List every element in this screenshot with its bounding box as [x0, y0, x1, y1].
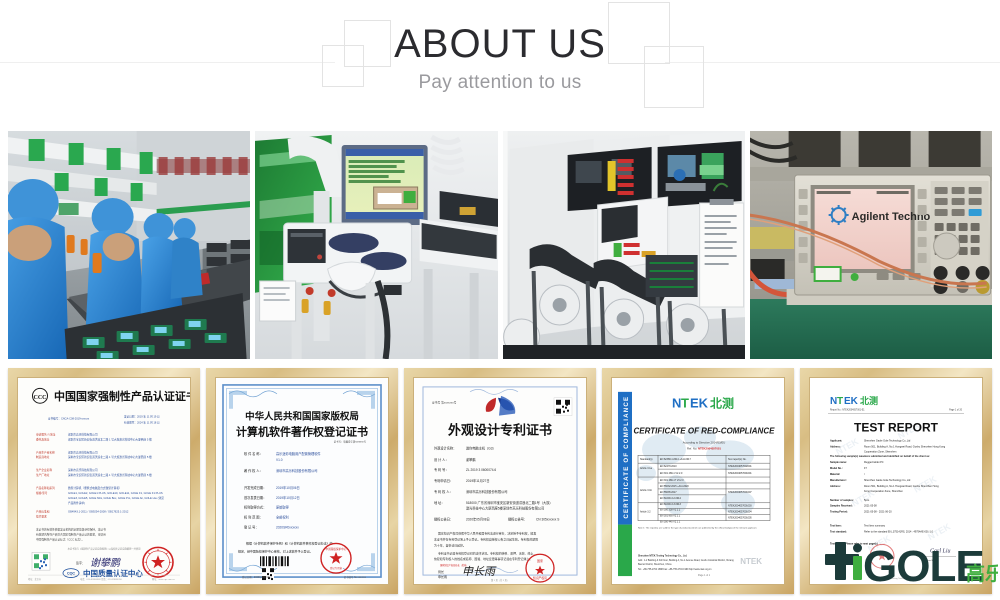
svg-text:2019年10月06日: 2019年10月06日	[276, 485, 300, 490]
svg-text:Carl Liu: Carl Liu	[930, 548, 951, 554]
certificate-red-compliance-page: CERTIFICATE OF COMPLIANCE N T EK 北测 CERT…	[611, 377, 785, 585]
svg-text:深圳市宝安区新安街道洪浪北二路 1 号大族激光科技中心大厦西: 深圳市宝安区新安街道洪浪北二路 1 号大族激光科技中心大厦西座 5 楼	[68, 437, 152, 441]
svg-text:证书号 第xxxxxxx号: 证书号 第xxxxxxx号	[432, 401, 457, 405]
svg-text:专 利 号：: 专 利 号：	[434, 467, 449, 472]
svg-text:产品名称和系列: 产品名称和系列	[36, 486, 55, 490]
svg-text:Address:: Address:	[830, 485, 841, 488]
svg-text:申长雨: 申长雨	[462, 565, 497, 578]
svg-text:生产厂地址: 生产厂地址	[36, 473, 50, 477]
svg-text:委托及地址: 委托及地址	[36, 437, 50, 441]
svg-text:NTEK: NTEK	[740, 557, 762, 566]
svg-text:申请服务人/地址: 申请服务人/地址	[36, 432, 56, 436]
gallery-photo-aoi-machine[interactable]	[255, 131, 497, 359]
svg-text:外观设计名称：: 外观设计名称：	[434, 445, 456, 450]
svg-text:制造商地址: 制造商地址	[36, 455, 50, 459]
svg-text:Page 1 of 1: Page 1 of 1	[698, 574, 711, 577]
svg-text:GB4943.1-2011 / GB9254-2008 /: GB4943.1-2011 / GB9254-2008 / GB17625.1-…	[68, 510, 129, 514]
svg-text:发证日期：2019 年 11 月 19 日: 发证日期：2019 年 11 月 19 日	[124, 415, 160, 419]
svg-text:Manufacturer:: Manufacturer:	[830, 479, 847, 482]
svg-text:Test results: Please refer to: Test results: Please refer to next page(…	[830, 542, 878, 545]
svg-text:生产企业名称: 生产企业名称	[36, 468, 52, 472]
svg-text:NTEK2004057001007: NTEK2004057001007	[728, 491, 752, 494]
svg-text:北测: 北测	[710, 396, 734, 411]
svg-text:设 计 人：: 设 计 人：	[434, 457, 449, 462]
svg-text:地 址：: 地 址：	[434, 500, 444, 505]
svg-text:知识产权局: 知识产权局	[533, 576, 547, 580]
svg-text:Add.: 1-2 Building & 3rd Floor: Add.: 1-2 Building & 3rd Floor, Building…	[638, 559, 734, 562]
svg-text:EK: EK	[844, 396, 859, 407]
svg-text:EN 300 328 V2.2.2: EN 300 328 V2.2.2	[660, 509, 681, 512]
svg-text:Address:: Address:	[830, 445, 841, 448]
svg-text:Shenzhen Gaole Gole Technology: Shenzhen Gaole Gole Technology Co.,Ltd	[864, 479, 911, 482]
svg-text:Test Item:: Test Item:	[830, 525, 842, 528]
certificate-design-patent[interactable]: 证书号 第xxxxxxx号	[404, 368, 596, 594]
svg-text:谢攀鹏: 谢攀鹏	[466, 457, 476, 462]
svg-text:Shenzhen Gaole Gole Technology: Shenzhen Gaole Gole Technology Co.,Ltd	[864, 439, 911, 442]
svg-text:2021-05-08: 2021-05-08	[864, 505, 877, 508]
certificate-ccc-page: CCC 中国国家强制性产品认证证书 证书编号：CNCA-C08-2019-xxx…	[17, 377, 191, 585]
svg-text:2020年05月08日: 2020年05月08日	[466, 517, 490, 522]
svg-text:T: T	[837, 396, 843, 407]
svg-text:专利证书记载专利权登记时的法律状况。专利权的转移、质押、无效: 专利证书记载专利权登记时的法律状况。专利权的转移、质押、无效、终止、	[438, 550, 536, 555]
certificate-ccc[interactable]: CCC 中国国家强制性产品认证证书 证书编号：CNCA-C08-2019-xxx…	[8, 368, 200, 594]
svg-text:有效期内所列产品符合国家强制性产品认证的要求，可使用: 有效期内所列产品符合国家强制性产品认证的要求，可使用	[36, 532, 106, 536]
svg-text:EN 61000-3-2:2014: EN 61000-3-2:2014	[660, 497, 682, 500]
header-text-block: ABOUT US Pay attention to us	[0, 0, 1000, 95]
svg-text:Number of samples:: Number of samples:	[830, 499, 854, 502]
svg-text:EN 55032:2015 +A11:2020: EN 55032:2015 +A11:2020	[660, 485, 689, 488]
svg-text:Test standard:: Test standard:	[830, 531, 847, 534]
page-subtitle: Pay attention to us	[0, 71, 1000, 95]
svg-text:申长雨: 申长雨	[438, 574, 447, 579]
certificate-test-report[interactable]: NTEK NTEK NTEK NTEK NTEK NTEK N T EK 北测	[800, 368, 992, 594]
svg-text:The following sample(s) was/we: The following sample(s) was/were submitt…	[830, 455, 930, 458]
gallery-photo-agilent-test-equipment[interactable]: Agilent Technologies	[750, 131, 992, 359]
svg-text:EN 301 489-17 V3.2.0: EN 301 489-17 V3.2.0	[660, 479, 684, 482]
svg-text:授权公告日：: 授权公告日：	[434, 517, 453, 522]
svg-text:Bao'an District, Shenzhen, Chi: Bao'an District, Shenzhen, China	[638, 563, 672, 566]
svg-text:Approved by: Approved by	[922, 559, 935, 562]
svg-text:权 利 范 围：: 权 利 范 围：	[244, 515, 263, 520]
svg-text:EN 301 489-1 V2.2.0: EN 301 489-1 V2.2.0	[660, 472, 683, 475]
svg-text:T: T	[681, 396, 689, 411]
svg-text:Applicant:: Applicant:	[830, 439, 842, 442]
svg-text:Room 501, Building A, No.1 Hon: Room 501, Building A, No.1 Hongwei Road,…	[864, 445, 946, 448]
svg-text:本证书并在专利登记簿上予以登记。专利权自授权公告之日起生效。: 本证书并在专利登记簿上予以登记。专利权自授权公告之日起生效。专利权的期限	[434, 536, 538, 541]
svg-text:Shenzhen NTEK Testing Technolo: Shenzhen NTEK Testing Technology Co., Lt…	[874, 577, 919, 580]
svg-text:高乐迷你电脑用户配置管理软件: 高乐迷你电脑用户配置管理软件	[276, 451, 321, 456]
svg-text:迷你电脑主机（G3）: 迷你电脑主机（G3）	[466, 445, 496, 450]
svg-text:规定，经中国版权保护中心审核，对上述软件予以登记。: 规定，经中国版权保护中心审核，对上述软件予以登记。	[238, 548, 313, 553]
svg-text:原始取得: 原始取得	[276, 505, 290, 510]
svg-text:2020SR0xxxxxx: 2020SR0xxxxxx	[276, 526, 299, 530]
svg-text:开发完成日期：: 开发完成日期：	[244, 485, 266, 490]
svg-text:深圳市高乐科技有限公司: 深圳市高乐科技有限公司	[68, 432, 98, 436]
svg-text:授权公告号：: 授权公告号：	[508, 517, 527, 522]
svg-text:规格/型号: 规格/型号	[36, 491, 48, 495]
svg-text:软 件 名 称：: 软 件 名 称：	[244, 451, 263, 456]
svg-text:产品标准和: 产品标准和	[36, 510, 50, 514]
svg-text:外观设计专利证书: 外观设计专利证书	[448, 423, 552, 438]
svg-text:2021-05-08 - 2021-06-20: 2021-05-08 - 2021-06-20	[864, 511, 892, 514]
svg-text:NTEK2004057001004: NTEK2004057001004	[728, 511, 752, 514]
svg-text:5pcs: 5pcs	[864, 499, 870, 502]
svg-text:产品生产者名称: 产品生产者名称	[36, 450, 55, 454]
svg-text:EN 301 893 V2.1.1: EN 301 893 V2.1.1	[660, 515, 681, 518]
svg-text:局长: 局长	[438, 569, 444, 574]
svg-text:TEST REPORT: TEST REPORT	[854, 421, 939, 435]
svg-text:中华人民共和国国家版权局: 中华人民共和国国家版权局	[245, 411, 359, 423]
svg-text:Room 501, Building A, No.1 Hon: Room 501, Building A, No.1 Hongwei Road,…	[864, 485, 939, 488]
svg-text:EN 62479:2010: EN 62479:2010	[660, 465, 677, 468]
svg-text:登记专用章: 登记专用章	[330, 566, 343, 570]
svg-text:中国强制性产品认证标志（CCC 标志）。: 中国强制性产品认证标志（CCC 标志）。	[36, 537, 84, 541]
svg-text:Standard(s): Standard(s)	[640, 458, 653, 461]
svg-text:深圳市宝安区新安街道洪浪北二路 1 号大族激光科技中心大厦西: 深圳市宝安区新安街道洪浪北二路 1 号大族激光科技中心大厦西座 5 楼	[68, 473, 152, 477]
svg-text:激光科技中心大厦西座5楼深圳市高乐科技股份有限公司: 激光科技中心大厦西座5楼深圳市高乐科技股份有限公司	[466, 506, 544, 511]
svg-text:证书编号 No.xxxxxxx: 证书编号 No.xxxxxxx	[344, 575, 367, 579]
svg-text:Article 3.1b: Article 3.1b	[640, 489, 653, 492]
svg-text:深圳市高乐科技股份有限公司: 深圳市高乐科技股份有限公司	[466, 489, 507, 494]
svg-text:NTEK2004057002001: NTEK2004057002001	[728, 465, 752, 468]
factory-photo-gallery: Agilent Technologies	[8, 131, 992, 359]
svg-text:Ref. No. NTEK2004057001: Ref. No. NTEK2004057001	[687, 446, 721, 450]
svg-text:Kong Cooperation Zone, Shenzhe: Kong Cooperation Zone, Shenzhen	[864, 490, 904, 493]
svg-text:北测: 北测	[860, 395, 878, 406]
svg-text:本证书的有效性依据发证机构的定期监督获得保持，本证书: 本证书的有效性依据发证机构的定期监督获得保持，本证书	[36, 528, 106, 532]
svg-text:深圳市高乐科技股份有限公司: 深圳市高乐科技股份有限公司	[276, 468, 317, 473]
svg-text:Refer to the standard EN_37514: Refer to the standard EN_375141RS, 2014 …	[864, 531, 934, 534]
svg-text:EN 61000-3-3:2013: EN 61000-3-3:2013	[660, 503, 682, 506]
svg-text:NTEK2004057001005: NTEK2004057001005	[728, 517, 752, 520]
svg-text:登记日期：2020年03月18日: 登记日期：2020年03月18日	[242, 575, 272, 579]
svg-text:国家知识产权局依照中华人民共和国专利法进行审查，决定授予专利: 国家知识产权局依照中华人民共和国专利法进行审查，决定授予专利权，颁发	[438, 531, 536, 536]
svg-text:登 记 号：: 登 记 号：	[244, 525, 259, 530]
gallery-photo-assembly-line[interactable]	[8, 131, 250, 359]
svg-text:Tel.: +86-755-2704 1888 Fax:: Tel.: +86-755-2704 1888 Fax: +86-755-270…	[638, 568, 712, 571]
svg-text:专 利 权 人：: 专 利 权 人：	[434, 489, 453, 494]
svg-text:Page 1 of 20: Page 1 of 20	[949, 410, 963, 412]
svg-text:EN 55035:2017: EN 55035:2017	[660, 491, 677, 494]
svg-text:Testing Period:: Testing Period:	[830, 511, 848, 514]
svg-text:证书编号：CNCA-C08-2019-xxxxxx: 证书编号：CNCA-C08-2019-xxxxxx	[48, 417, 90, 421]
svg-text:深圳市高乐科技有限公司: 深圳市高乐科技有限公司	[68, 468, 98, 472]
svg-text:全部权利: 全部权利	[276, 515, 289, 520]
svg-text:微型计算机（便携式电脑及台式微型计算机）: 微型计算机（便携式电脑及台式微型计算机）	[68, 486, 122, 490]
svg-text:权利取得方式：: 权利取得方式：	[244, 505, 266, 510]
svg-text:Material:: Material:	[830, 473, 840, 476]
svg-text:CERTIFICATE OF COMPLIANCE: CERTIFICATE OF COMPLIANCE	[623, 396, 630, 519]
svg-text:Test report(s) No.: Test report(s) No.	[728, 458, 747, 461]
svg-text:Sample name:: Sample name:	[830, 461, 847, 464]
svg-text:Note 1: The report(s) are vali: Note 1: The report(s) are valid for the …	[638, 527, 757, 530]
svg-text:签字：: 签字：	[76, 560, 85, 565]
svg-text:著 作 权 人：: 著 作 权 人：	[244, 468, 263, 473]
svg-text:NTEK2004057001001: NTEK2004057001001	[728, 472, 752, 475]
svg-text:CERTIFICATE OF RED-COMPLIANCE: CERTIFICATE OF RED-COMPLIANCE	[634, 426, 776, 435]
certificate-red-compliance[interactable]: CERTIFICATE OF COMPLIANCE N T EK 北测 CERT…	[602, 368, 794, 594]
svg-text:EK: EK	[690, 396, 709, 411]
svg-text:深圳市宝安区新安街道洪浪北二路 1 号大族激光科技中心大厦西: 深圳市宝安区新安街道洪浪北二路 1 号大族激光科技中心大厦西座 5 楼	[68, 455, 152, 459]
svg-text:Samples Received:: Samples Received:	[830, 505, 853, 508]
svg-text:中国质量认证中心: 中国质量认证中心	[83, 568, 143, 578]
svg-text:恢复和专利权人的姓名或名称、国籍、地址变更等事项记载在专利登: 恢复和专利权人的姓名或名称、国籍、地址变更等事项记载在专利登记簿上。	[434, 556, 532, 561]
svg-text:Article 3.1a: Article 3.1a	[640, 467, 653, 470]
svg-text:国家: 国家	[537, 558, 543, 563]
svg-text:中国版权保护中心: 中国版权保护中心	[326, 547, 347, 551]
certificate-software-copyright-page: 中华人民共和国国家版权局 计算机软件著作权登记证书 证书号：软著登字第xxxxx…	[215, 377, 389, 585]
svg-text:518000 广东省深圳市宝安区新安街道洪浪北二路1号（大族: 518000 广东省深圳市宝安区新安街道洪浪北二路1号（大族）	[466, 500, 553, 505]
svg-text:谢攀鹏: 谢攀鹏	[90, 557, 121, 569]
svg-text:CN 305xxxxxx S: CN 305xxxxxx S	[536, 518, 559, 522]
svg-text:为十年，自申请日起算。: 为十年，自申请日起算。	[434, 542, 466, 547]
svg-text:NTEK2004057001003: NTEK2004057001003	[728, 505, 752, 508]
svg-text:2019年10月12日: 2019年10月12日	[276, 495, 300, 500]
svg-text:Report No.: NTEK2004057001-E1: Report No.: NTEK2004057001-E1	[830, 409, 865, 412]
svg-text:有效期至：2024 年 11 月 18 日: 有效期至：2024 年 11 月 18 日	[124, 421, 160, 425]
svg-text:GOLE1, GOLE2, GOLE1 PLUS, GOLE: GOLE1, GOLE2, GOLE1 PLUS, GOLE10, GOLE11…	[68, 491, 163, 495]
svg-text:N: N	[672, 396, 681, 411]
about-us-page: ABOUT US Pay attention to us	[0, 0, 1000, 600]
svg-text:证书号：软著登字第xxxxxxx号: 证书号：软著登字第xxxxxxx号	[334, 439, 367, 443]
svg-text:According to Directive 2014/5: According to Directive 2014/53/EU	[683, 440, 725, 444]
svg-text:2019年11月27日: 2019年11月27日	[466, 478, 490, 483]
svg-text:Shenzhen NTEK Testing Technolo: Shenzhen NTEK Testing Technology Co., Lt…	[638, 554, 687, 557]
certificate-test-report-page: NTEK NTEK NTEK NTEK NTEK NTEK N T EK 北测	[809, 377, 983, 585]
svg-text:GOLE3, GOLE5, GOLE Mini, GOLE: GOLE3, GOLE5, GOLE Mini, GOLE Box, GOLE …	[68, 496, 164, 500]
svg-text:根据《计算机软件保护条例》和《计算机软件著作权登记办法》的: 根据《计算机软件保护条例》和《计算机软件著作权登记办法》的	[246, 540, 333, 545]
svg-text:Test Item summary: Test Item summary	[864, 525, 886, 528]
svg-text:首次发表日期：: 首次发表日期：	[244, 495, 266, 500]
svg-text:专利申请日：: 专利申请日：	[434, 478, 453, 483]
gallery-photo-pick-and-place[interactable]	[503, 131, 745, 359]
svg-text:CCC: CCC	[34, 395, 47, 401]
svg-text:V1.0: V1.0	[276, 458, 283, 462]
certificate-software-copyright[interactable]: 中华人民共和国国家版权局 计算机软件著作权登记证书 证书号：软著登字第xxxxx…	[206, 368, 398, 594]
page-header: ABOUT US Pay attention to us	[0, 0, 1000, 118]
svg-text:深圳市高乐科技有限公司: 深圳市高乐科技有限公司	[68, 450, 98, 454]
certificate-design-patent-page: 证书号 第xxxxxxx号	[413, 377, 587, 585]
page-title: ABOUT US	[0, 22, 1000, 66]
svg-text:产品附件清单): 产品附件清单)	[68, 501, 85, 505]
svg-text:技术要求: 技术要求	[36, 515, 47, 519]
certificates-row: CCC 中国国家强制性产品认证证书 证书编号：CNCA-C08-2019-xxx…	[8, 368, 992, 594]
svg-text:ZL 2019 3 0600074.6: ZL 2019 3 0600074.6	[466, 468, 496, 472]
svg-text:Rugged tablet PC: Rugged tablet PC	[864, 461, 884, 464]
svg-text:Cooperation Zone, Shenzhen: Cooperation Zone, Shenzhen	[864, 450, 897, 453]
svg-text:Article 3.2: Article 3.2	[640, 511, 651, 514]
svg-text:计算机软件著作权登记证书: 计算机软件著作权登记证书	[236, 424, 368, 438]
svg-text:Model No.:: Model No.:	[830, 467, 843, 470]
svg-text:EN 300 440 V2.1.1: EN 300 440 V2.1.1	[660, 521, 681, 524]
svg-text:EN 62368-1:2014 +A11:2017: EN 62368-1:2014 +A11:2017	[660, 458, 691, 461]
svg-text:中国国家强制性产品认证证书: 中国国家强制性产品认证证书	[54, 389, 190, 403]
